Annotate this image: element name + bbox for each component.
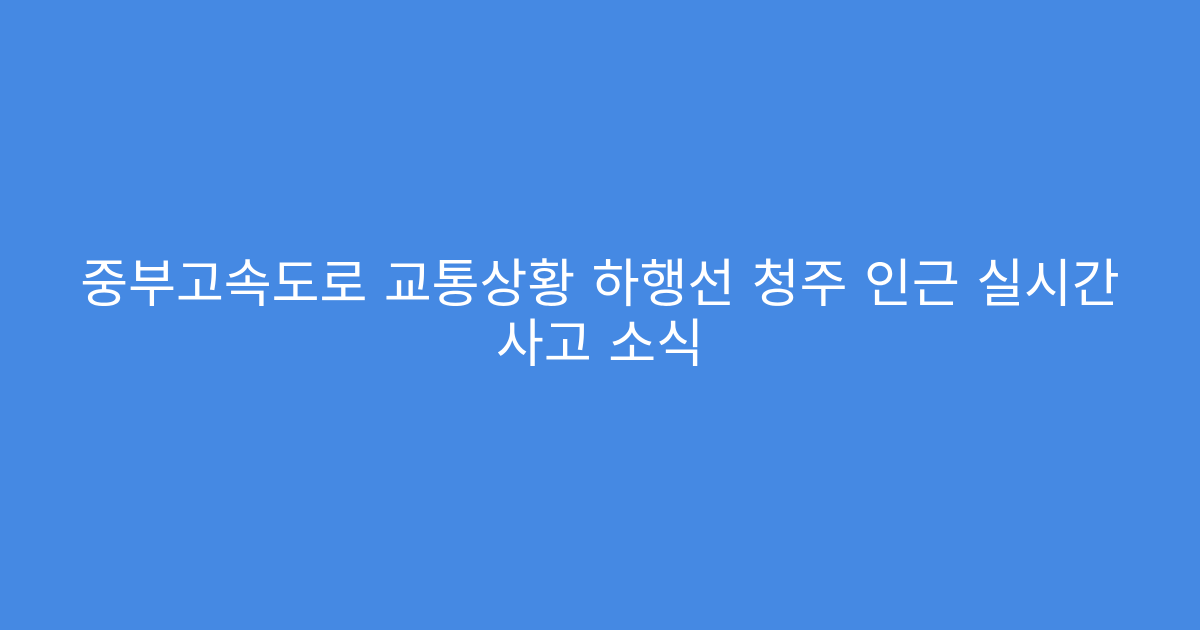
page-title: 중부고속도로 교통상황 하행선 청주 인근 실시간 사고 소식 (50, 255, 1150, 375)
title-block: 중부고속도로 교통상황 하행선 청주 인근 실시간 사고 소식 (50, 255, 1150, 375)
thumbnail-card: 중부고속도로 교통상황 하행선 청주 인근 실시간 사고 소식 (0, 0, 1200, 630)
